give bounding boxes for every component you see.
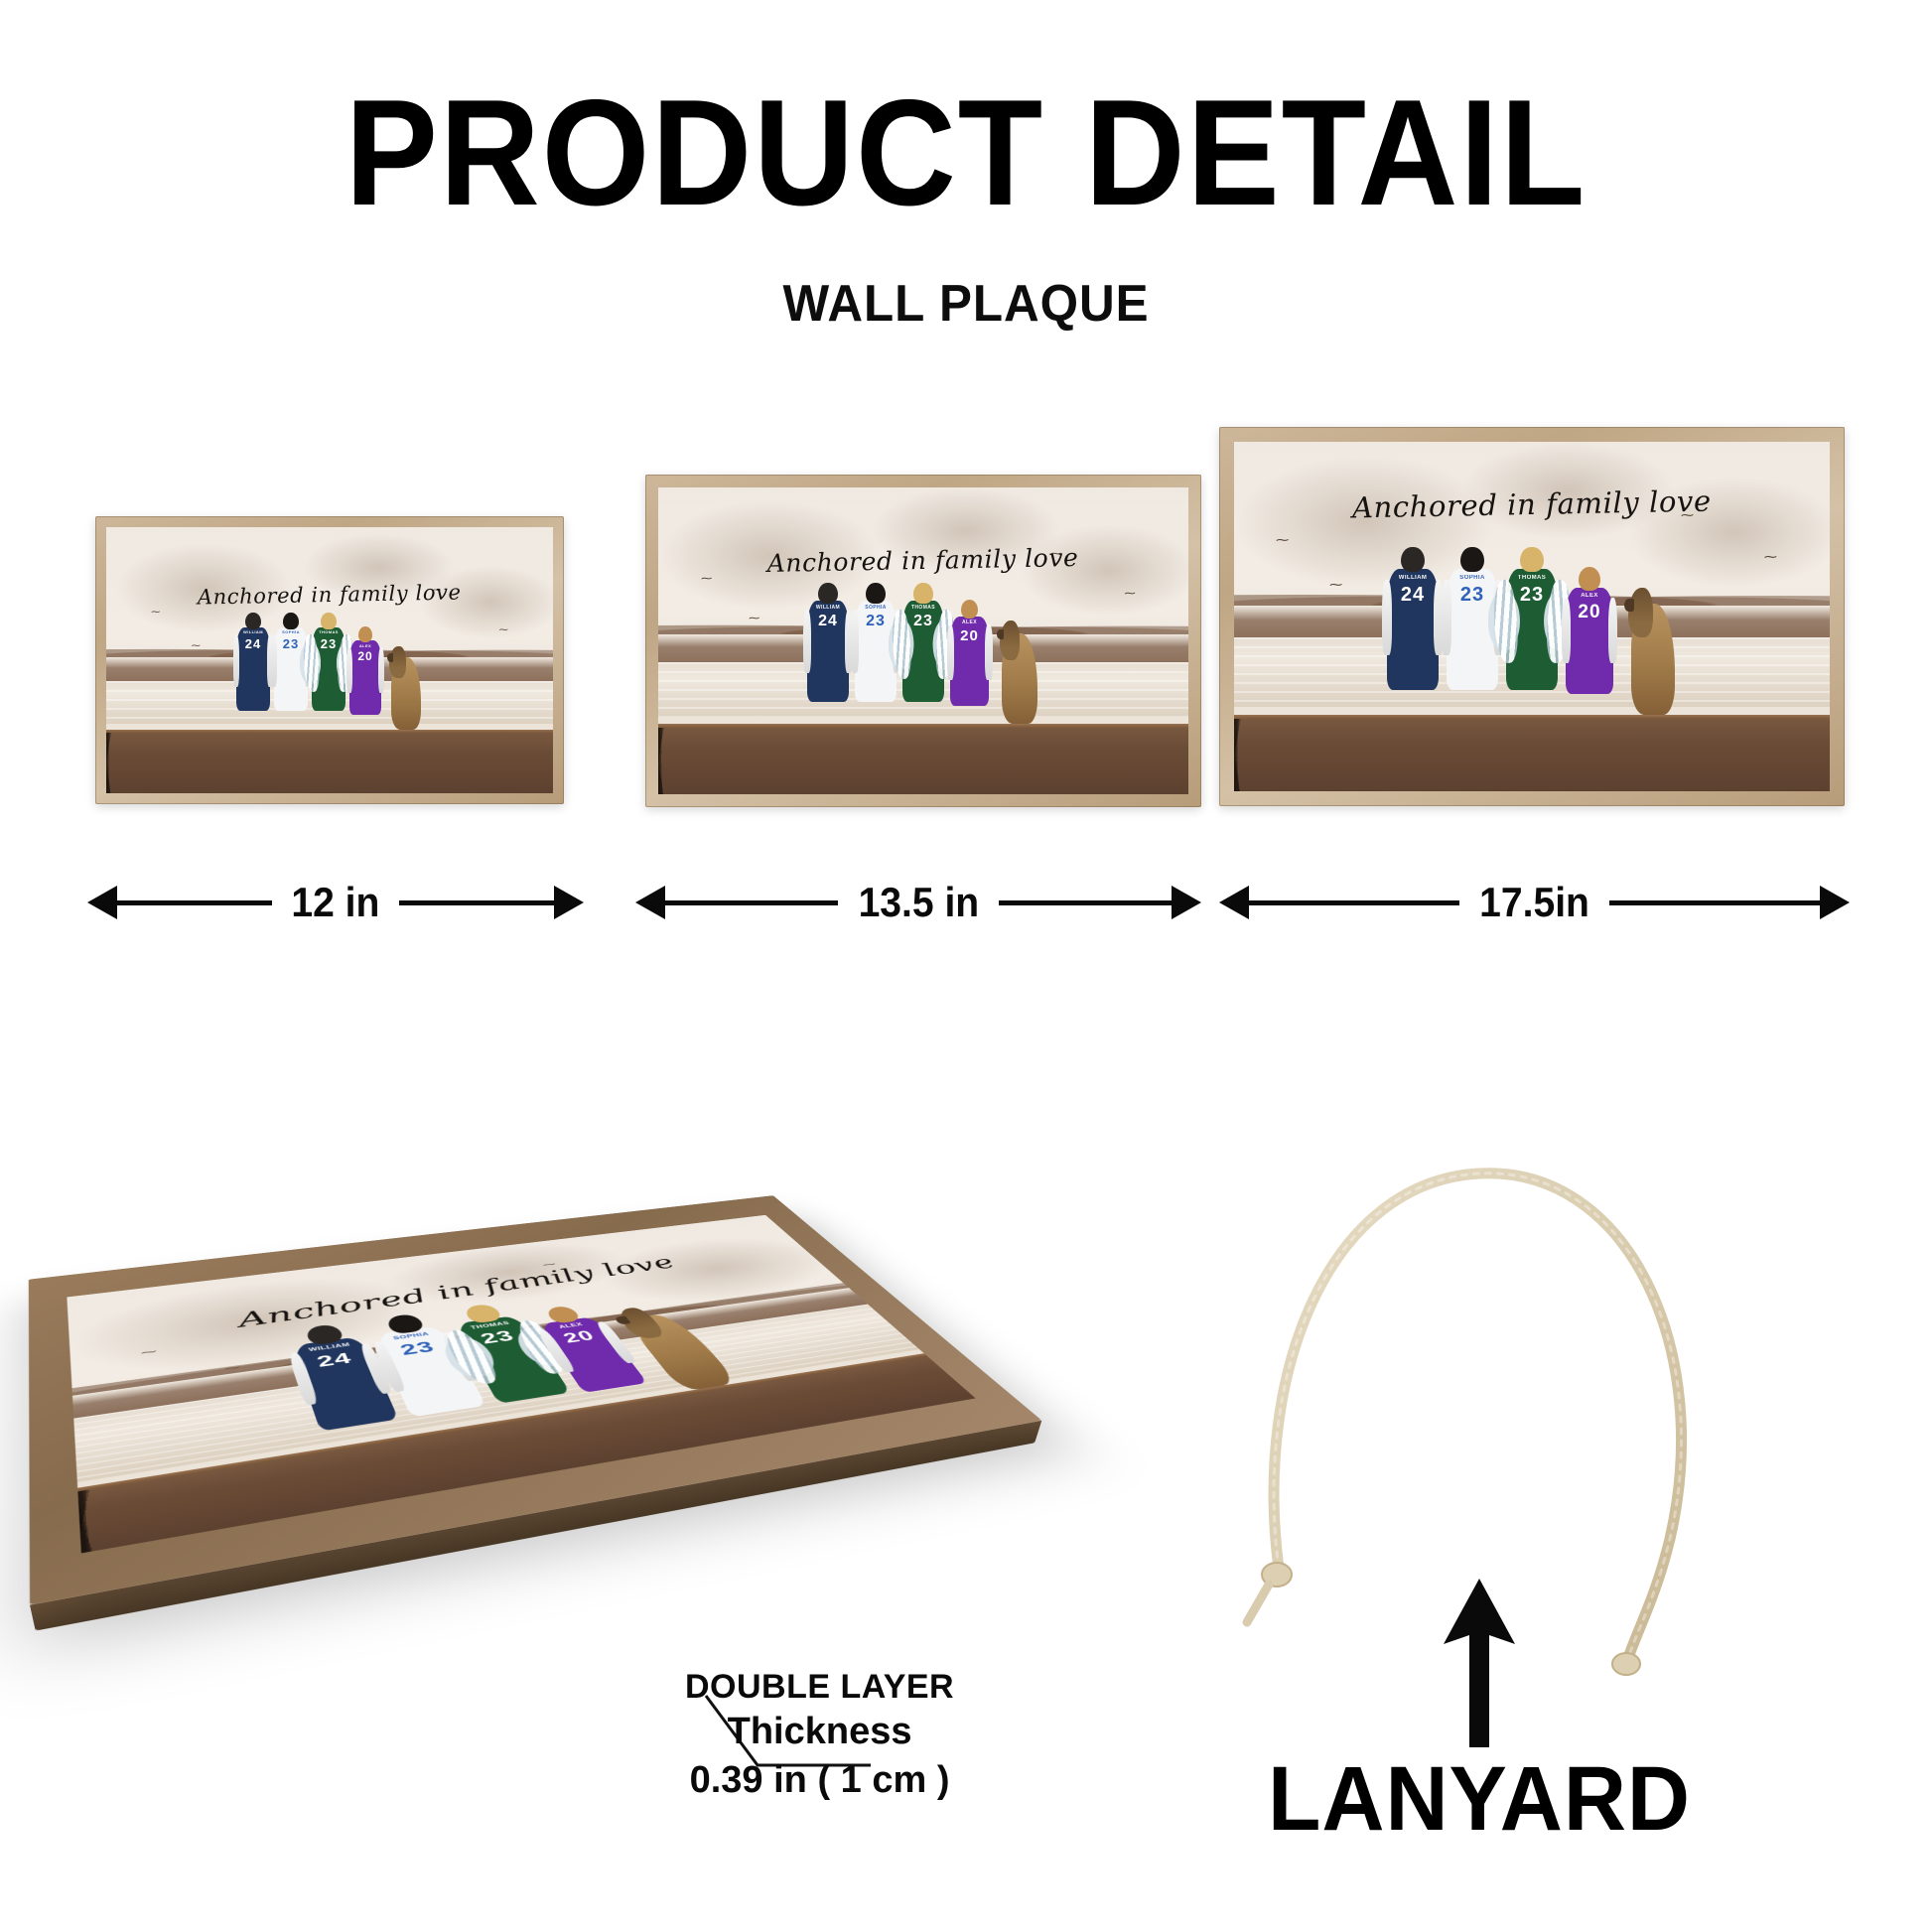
dimension-line	[117, 900, 272, 905]
jersey-sleeve	[358, 1342, 394, 1394]
plaque-artwork: Anchored in family love WILLIAM 24	[106, 527, 552, 792]
arrow-right-icon	[1172, 886, 1201, 919]
jersey-name: SOPHIA	[1459, 575, 1484, 581]
jersey-number: 24	[315, 1350, 353, 1369]
jersey-name: THOMAS	[319, 630, 339, 634]
jersey-name: ALEX	[1581, 593, 1598, 599]
lanyard-knot-right	[1612, 1653, 1640, 1675]
plaque-frame: Anchored in family love WILLIAM 24	[95, 516, 564, 804]
dimension-small: 12 in	[87, 879, 584, 926]
dog-snout	[1624, 599, 1633, 612]
lanyard-pointer-arrow-icon	[1420, 1579, 1539, 1747]
jersey-number: 20	[960, 628, 979, 643]
jersey-name: WILLIAM	[243, 630, 263, 634]
bird-icon	[223, 1363, 241, 1373]
dog-snout	[614, 1315, 630, 1324]
dimension-line	[999, 900, 1172, 905]
arrow-right-icon	[1820, 886, 1850, 919]
figure-william: WILLIAM 24	[807, 583, 849, 724]
figure-dog	[624, 1311, 739, 1392]
family-figures-group: WILLIAM 24 SOPHIA 23	[106, 613, 552, 730]
dock-piling	[192, 1483, 214, 1533]
jersey-sleeve	[947, 624, 954, 680]
thickness-callout: DOUBLE LAYER Thickness 0.39 in ( 1 cm )	[685, 1668, 954, 1802]
dimension-label: 12 in	[277, 879, 395, 926]
dock-edge	[1234, 715, 1830, 720]
figure-head	[358, 626, 373, 642]
arrow-left-icon	[635, 886, 665, 919]
dock-planks	[1234, 715, 1830, 791]
dimension-line	[399, 900, 554, 905]
plaque-3d-view[interactable]: Anchored in family love WILLIAM 24	[55, 1087, 948, 1603]
dog-body	[391, 657, 421, 730]
thickness-line-3: 0.39 in ( 1 cm )	[685, 1759, 954, 1802]
figure-head	[305, 1323, 345, 1345]
plaque-frame: Anchored in family love WILLIAM 24	[645, 475, 1201, 807]
figure-william: WILLIAM 24	[1387, 547, 1439, 715]
plaque-artwork: Anchored in family love WILLIAM 24	[1234, 442, 1830, 791]
jersey-name: SOPHIA	[282, 630, 300, 634]
jersey-number: 23	[398, 1339, 438, 1358]
jersey-name: WILLIAM	[308, 1342, 350, 1352]
figure-thomas: THOMAS 23	[312, 613, 345, 730]
plaque-preview-large[interactable]: Anchored in family love WILLIAM 24	[1219, 427, 1845, 806]
figure-dog	[1631, 604, 1675, 714]
jersey-number: 23	[866, 614, 886, 629]
jersey-name: ALEX	[359, 644, 371, 648]
dog-snout	[387, 653, 393, 661]
jersey-number: 20	[357, 650, 372, 662]
arrow-right-icon	[554, 886, 584, 919]
dock-edge	[106, 730, 552, 734]
dock-planks	[106, 730, 552, 793]
plaque-preview-medium[interactable]: Anchored in family love WILLIAM 24	[645, 475, 1201, 807]
jersey-number: 23	[283, 637, 299, 650]
jersey-number: 24	[245, 637, 261, 650]
dimension-line	[1249, 900, 1459, 905]
dock-planks	[658, 724, 1187, 794]
figure-jersey: WILLIAM 24	[807, 601, 849, 702]
jersey-sleeve	[271, 634, 277, 687]
figure-head	[283, 613, 299, 629]
bird-icon	[1276, 533, 1289, 546]
dog-head	[1000, 621, 1020, 660]
jersey-sleeve	[1608, 598, 1617, 663]
figure-thomas: THOMAS 23	[1506, 547, 1558, 715]
jersey-sleeve	[378, 647, 384, 693]
jersey-sleeve	[1442, 580, 1451, 654]
dog-body	[1002, 633, 1037, 724]
figure-dog	[391, 657, 421, 730]
family-figures-group: WILLIAM 24 SOPHIA 23	[1234, 547, 1830, 715]
figure-head	[1460, 547, 1484, 573]
jersey-sleeve	[985, 624, 992, 680]
bird-icon	[140, 1347, 157, 1357]
dock-piling	[864, 1363, 924, 1409]
page-title: PRODUCT DETAIL	[77, 77, 1855, 228]
plaque-artwork: Anchored in family love WILLIAM 24	[658, 487, 1187, 793]
figure-jersey: WILLIAM 24	[291, 1336, 398, 1431]
figure-jersey: ALEX 20	[349, 640, 381, 715]
dog-snout	[997, 629, 1005, 639]
jersey-sleeve	[346, 647, 352, 693]
figure-jersey: WILLIAM 24	[1387, 569, 1439, 690]
jersey-name: ALEX	[962, 621, 977, 625]
figure-alex: ALEX 20	[1566, 567, 1613, 715]
arrow-left-icon	[87, 886, 117, 919]
jersey-sleeve	[287, 1352, 319, 1406]
jersey-sleeve	[370, 1340, 407, 1392]
figure-head	[1579, 567, 1600, 591]
figure-jersey: ALEX 20	[950, 617, 989, 706]
dimension-line	[1609, 900, 1820, 905]
jersey-name: WILLIAM	[816, 606, 840, 611]
plaque-3d-body: Anchored in family love WILLIAM 24	[29, 1195, 1042, 1605]
jersey-sleeve	[851, 610, 859, 672]
figure-jersey: ALEX 20	[1566, 588, 1613, 694]
dock-edge	[658, 724, 1187, 728]
figure-jersey: THOMAS 23	[902, 601, 944, 702]
figure-jersey: THOMAS 23	[312, 627, 345, 712]
figure-head	[866, 583, 885, 604]
figure-head	[913, 583, 932, 604]
jersey-sleeve	[1562, 598, 1571, 663]
thickness-line-2: Thickness	[685, 1711, 954, 1753]
figure-thomas: THOMAS 23	[902, 583, 944, 724]
figure-head	[818, 583, 837, 604]
figure-jersey: THOMAS 23	[1506, 569, 1558, 690]
plaque-3d-frame: Anchored in family love WILLIAM 24	[29, 1195, 1042, 1605]
dog-body	[1631, 604, 1675, 714]
figure-alex: ALEX 20	[349, 626, 381, 730]
dock-piling	[108, 1480, 135, 1547]
figure-alex: ALEX 20	[950, 600, 989, 724]
dimension-label: 13.5 in	[843, 879, 993, 926]
jersey-name: THOMAS	[911, 606, 935, 611]
figure-head	[321, 613, 337, 629]
plaque-preview-small[interactable]: Anchored in family love WILLIAM 24	[95, 516, 564, 804]
jersey-sleeve	[233, 634, 239, 687]
arrow-left-icon	[1219, 886, 1249, 919]
figure-head	[961, 600, 979, 619]
jersey-number: 23	[1460, 585, 1484, 605]
page-subtitle: WALL PLAQUE	[49, 274, 1884, 334]
dimension-medium: 13.5 in	[635, 879, 1201, 926]
figure-jersey: WILLIAM 24	[236, 627, 270, 712]
dog-head	[389, 646, 406, 678]
thickness-line-1: DOUBLE LAYER	[685, 1668, 954, 1707]
jersey-number: 24	[1401, 585, 1425, 605]
figure-william: WILLIAM 24	[236, 613, 270, 730]
jersey-number: 20	[1578, 603, 1600, 621]
size-variants-row: Anchored in family love WILLIAM 24	[0, 397, 1932, 953]
dimension-large: 17.5in	[1219, 879, 1850, 926]
dimension-label: 17.5in	[1464, 879, 1604, 926]
plaque-artwork: Anchored in family love WILLIAM 24	[67, 1215, 975, 1553]
jersey-name: SOPHIA	[865, 606, 887, 611]
dimension-line	[665, 900, 838, 905]
dog-body	[624, 1311, 739, 1392]
figure-head	[245, 613, 261, 629]
family-figures-group: WILLIAM 24 SOPHIA 23	[658, 583, 1187, 724]
jersey-number: 24	[818, 614, 838, 629]
page-header: PRODUCT DETAIL WALL PLAQUE	[0, 0, 1932, 334]
figure-head	[1401, 547, 1425, 573]
plaque-frame: Anchored in family love WILLIAM 24	[1219, 427, 1845, 806]
dog-head	[614, 1307, 667, 1340]
jersey-name: WILLIAM	[1399, 575, 1427, 581]
figure-dog	[1002, 633, 1037, 724]
jersey-sleeve	[803, 610, 811, 672]
jersey-sleeve	[1382, 580, 1392, 654]
jersey-number: 20	[560, 1328, 598, 1345]
jersey-name: THOMAS	[1518, 575, 1546, 581]
figure-head	[1520, 547, 1544, 573]
dog-head	[1628, 588, 1653, 636]
lanyard-label: LANYARD	[1187, 1747, 1772, 1852]
